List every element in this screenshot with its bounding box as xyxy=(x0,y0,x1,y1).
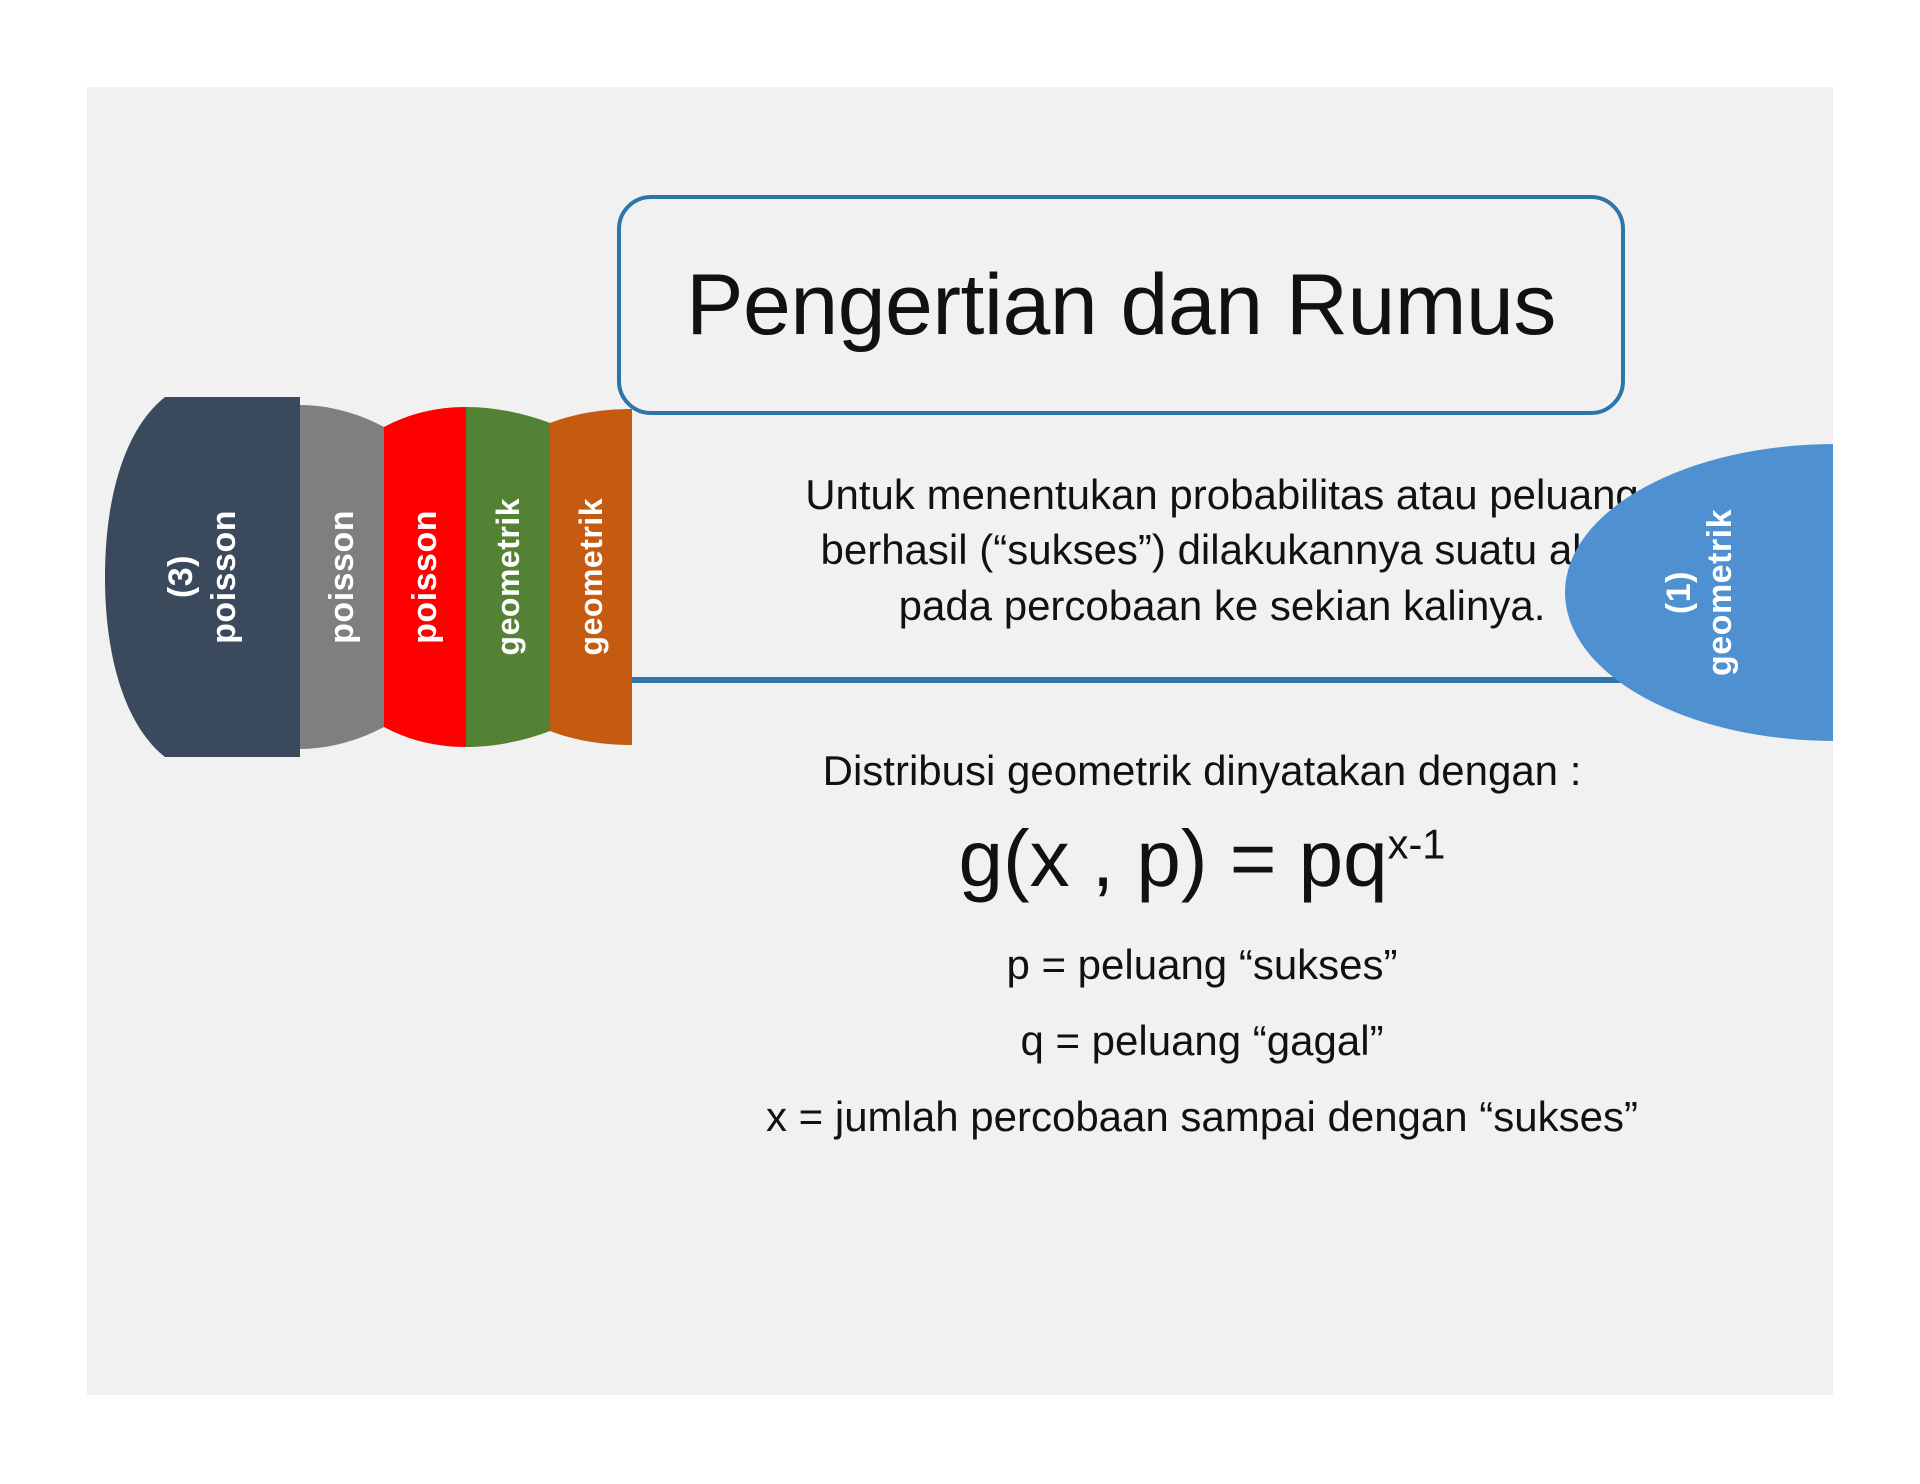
stack-band-5: geometrik xyxy=(550,397,632,757)
formula-exponent: x-1 xyxy=(1388,820,1446,867)
slide-title-box: Pengertian dan Rumus xyxy=(617,195,1625,415)
band-4-shape xyxy=(466,397,550,757)
right-semicircle: (1) geometrik xyxy=(1565,444,1833,741)
left-chevron-stack: (3) poisson poisson poisson xyxy=(87,397,517,757)
stack-band-4: geometrik xyxy=(466,397,550,757)
definition-q: q = peluang “gagal” xyxy=(567,1017,1833,1065)
definition-p: p = peluang “sukses” xyxy=(567,941,1833,989)
stack-band-3: poisson xyxy=(384,397,466,757)
band-2-shape xyxy=(300,397,384,757)
band-5-shape xyxy=(550,397,632,757)
formula-intro-text: Distribusi geometrik dinyatakan dengan : xyxy=(647,747,1757,795)
band-3-shape xyxy=(384,397,466,757)
right-semicircle-shape xyxy=(1565,444,1833,741)
formula-lhs: g(x , p) = pq xyxy=(959,814,1388,903)
definition-x: x = jumlah percobaan sampai dengan “suks… xyxy=(567,1093,1833,1141)
stack-band-1: (3) poisson xyxy=(105,397,300,757)
stack-band-2: poisson xyxy=(300,397,384,757)
page-title: Pengertian dan Rumus xyxy=(686,262,1556,348)
band-1-shape xyxy=(105,397,300,757)
formula-expression: g(x , p) = pqx-1 xyxy=(647,817,1757,901)
slide-canvas: Pengertian dan Rumus Untuk menentukan pr… xyxy=(87,87,1833,1395)
